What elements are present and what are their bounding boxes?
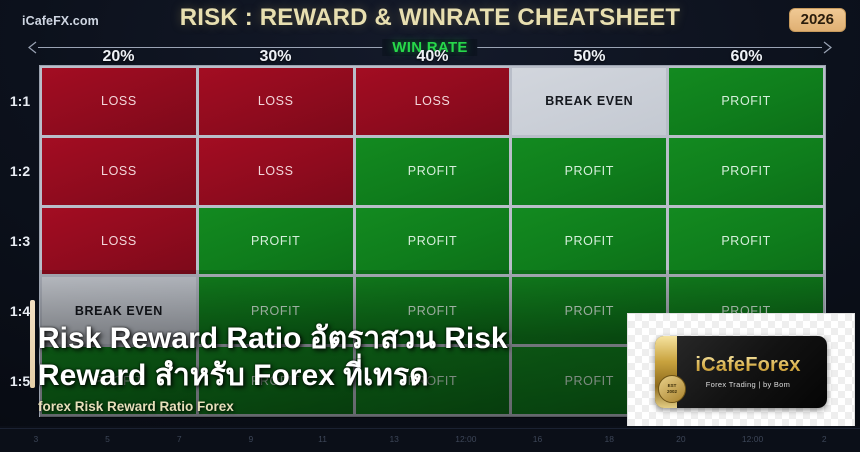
column-header-0: 20% <box>40 48 197 68</box>
grid-cell-1-2-40: PROFIT <box>356 138 510 205</box>
accent-bar <box>30 300 35 388</box>
column-header-2: 40% <box>354 48 511 68</box>
grid-cell-1-2-30: LOSS <box>199 138 353 205</box>
row-header-1-2: 1:2 <box>2 136 38 206</box>
grid-cell-1-1-40: LOSS <box>356 68 510 135</box>
video-frame: iCafeFX.com RISK : REWARD & WINRATE CHEA… <box>0 0 860 452</box>
grid-cell-1-3-40: PROFIT <box>356 208 510 275</box>
grid-cell-1-2-60: PROFIT <box>669 138 823 205</box>
page-title: RISK : REWARD & WINRATE CHEATSHEET <box>0 4 860 32</box>
column-header-4: 60% <box>668 48 825 68</box>
timeline-tick-11: 2 <box>788 434 860 444</box>
timeline-tick-4: 11 <box>287 434 359 444</box>
timeline-ticks: 3579111312:0016182012:002 <box>0 434 860 444</box>
row-header-1-1: 1:1 <box>2 66 38 136</box>
caption-overlay: Risk Reward Ratio อัตราสวน Risk Reward ส… <box>38 320 638 414</box>
timeline-tick-10: 12:00 <box>717 434 789 444</box>
column-header-1: 30% <box>197 48 354 68</box>
timeline-tick-6: 12:00 <box>430 434 502 444</box>
column-headers: 20%30%40%50%60% <box>40 48 825 68</box>
est-seal-icon: EST 2002 <box>658 375 686 403</box>
brand-name: iCafeForex <box>695 354 800 377</box>
grid-cell-1-3-60: PROFIT <box>669 208 823 275</box>
grid-cell-1-1-20: LOSS <box>42 68 196 135</box>
video-timeline[interactable]: 3579111312:0016182012:002 <box>0 426 860 452</box>
timeline-tick-9: 20 <box>645 434 717 444</box>
timeline-tick-1: 5 <box>72 434 144 444</box>
timeline-tick-5: 13 <box>358 434 430 444</box>
timeline-tick-8: 18 <box>573 434 645 444</box>
grid-cell-1-2-20: LOSS <box>42 138 196 205</box>
grid-cell-1-3-20: LOSS <box>42 208 196 275</box>
grid-cell-1-1-30: LOSS <box>199 68 353 135</box>
grid-cell-1-1-50: BREAK EVEN <box>512 68 666 135</box>
timeline-tick-3: 9 <box>215 434 287 444</box>
grid-cell-1-3-30: PROFIT <box>199 208 353 275</box>
caption-line-1: Risk Reward Ratio อัตราสวน Risk <box>38 320 638 357</box>
arrow-left-icon <box>28 41 40 54</box>
caption-line-2: Reward สำหรับ Forex ที่เทรด <box>38 357 638 394</box>
row-header-1-3: 1:3 <box>2 206 38 276</box>
timeline-tick-7: 16 <box>502 434 574 444</box>
caption-subtitle: forex Risk Reward Ratio Forex <box>38 399 638 414</box>
timeline-track[interactable] <box>0 428 860 429</box>
grid-cell-1-2-50: PROFIT <box>512 138 666 205</box>
year-badge: 2026 <box>789 8 846 32</box>
column-header-3: 50% <box>511 48 668 68</box>
timeline-tick-2: 7 <box>143 434 215 444</box>
seal-line-2: 2002 <box>667 389 677 395</box>
timeline-tick-0: 3 <box>0 434 72 444</box>
brand-tagline: Forex Trading | by Bom <box>706 380 790 389</box>
grid-cell-1-1-60: PROFIT <box>669 68 823 135</box>
logo-plate: EST 2002 iCafeForex Forex Trading | by B… <box>655 336 827 408</box>
logo-card: EST 2002 iCafeForex Forex Trading | by B… <box>627 313 855 430</box>
grid-cell-1-3-50: PROFIT <box>512 208 666 275</box>
